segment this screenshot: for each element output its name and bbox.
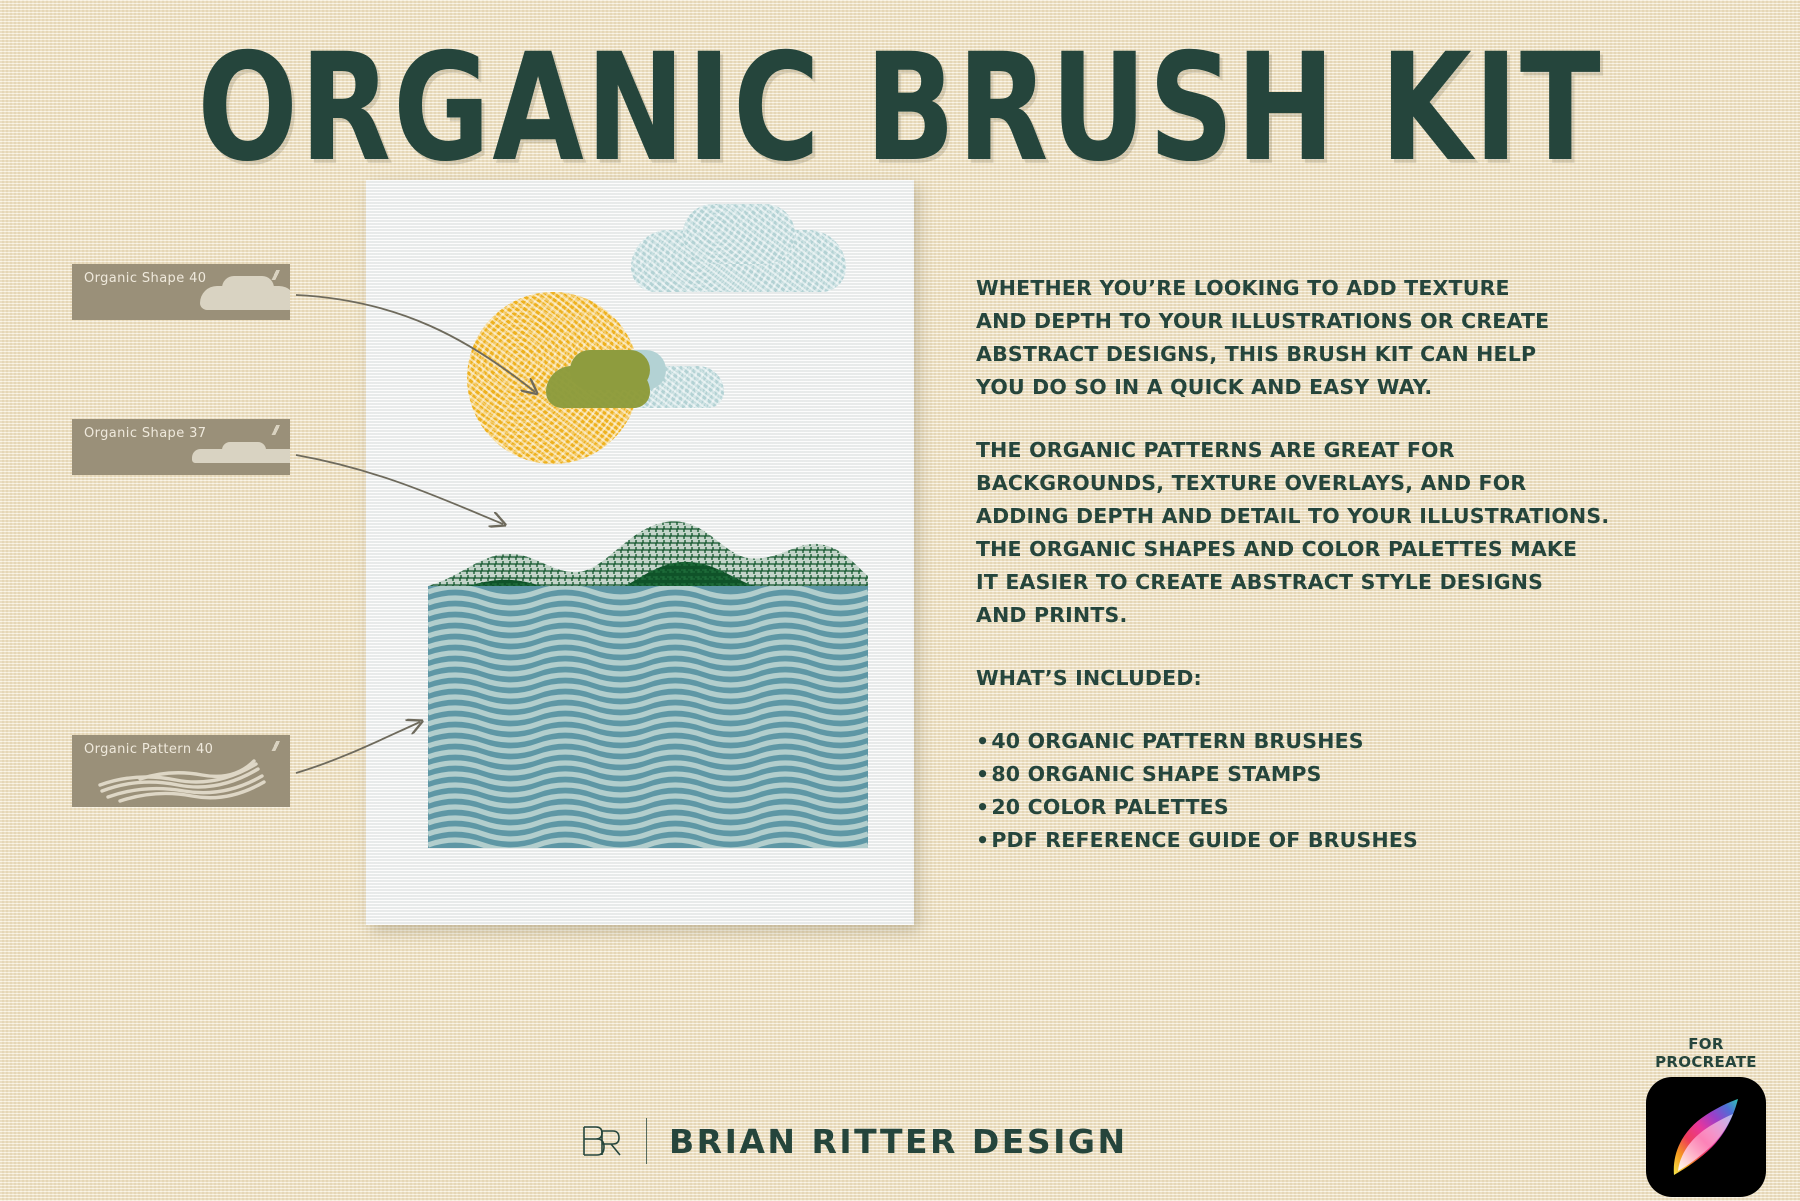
list-item: PDF REFERENCE GUIDE OF BRUSHES	[976, 824, 1486, 857]
cloud-swatch-icon	[200, 286, 290, 310]
brush-card-label: Organic Shape 40	[84, 271, 206, 286]
paragraph-2: THE ORGANIC PATTERNS ARE GREAT FOR BACKG…	[976, 434, 1486, 632]
hill-swatch-icon	[192, 449, 290, 463]
list-item: 80 ORGANIC SHAPE STAMPS	[976, 758, 1486, 791]
resize-handle-icon[interactable]	[266, 270, 284, 280]
procreate-badge: FOR PROCREATE	[1642, 1035, 1770, 1197]
copy-line: WHETHER YOU’RE LOOKING TO ADD TEXTURE	[976, 272, 1486, 305]
paragraph-1: WHETHER YOU’RE LOOKING TO ADD TEXTURE AN…	[976, 272, 1486, 404]
brush-card-organic-shape-37[interactable]: Organic Shape 37	[72, 419, 290, 475]
copy-line: ABSTRACT DESIGNS, THIS BRUSH KIT CAN HEL…	[976, 338, 1486, 371]
list-item: 40 ORGANIC PATTERN BRUSHES	[976, 725, 1486, 758]
brush-card-organic-shape-40[interactable]: Organic Shape 40	[72, 264, 290, 320]
wave-swatch-icon	[86, 755, 278, 803]
list-item: 20 COLOR PALETTES	[976, 791, 1486, 824]
copy-line: THE ORGANIC PATTERNS ARE GREAT FOR	[976, 434, 1486, 467]
copy-line: BACKGROUNDS, TEXTURE OVERLAYS, AND FOR	[976, 467, 1486, 500]
procreate-app-icon	[1646, 1077, 1766, 1197]
cloud-upper-shape	[631, 230, 846, 292]
copy-line: AND PRINTS.	[976, 599, 1486, 632]
brush-card-organic-pattern-40[interactable]: Organic Pattern 40	[72, 735, 290, 807]
copy-line: AND DEPTH TO YOUR ILLUSTRATIONS OR CREAT…	[976, 305, 1486, 338]
brand-name: BRIAN RITTER DESIGN	[669, 1122, 1128, 1161]
poster-canvas: ORGANIC BRUSH KIT	[0, 0, 1800, 1201]
procreate-label: FOR PROCREATE	[1642, 1035, 1770, 1071]
brd-monogram-icon	[580, 1121, 624, 1161]
brush-card-label: Organic Shape 37	[84, 426, 206, 441]
copy-line: THE ORGANIC SHAPES AND COLOR PALETTES MA…	[976, 533, 1486, 566]
water-shape	[428, 586, 868, 848]
resize-handle-icon[interactable]	[266, 741, 284, 751]
copy-line: YOU DO SO IN A QUICK AND EASY WAY.	[976, 371, 1486, 404]
description-column: WHETHER YOU’RE LOOKING TO ADD TEXTURE AN…	[976, 272, 1486, 857]
footer-divider	[646, 1118, 647, 1164]
footer-branding: BRIAN RITTER DESIGN	[580, 1118, 1128, 1164]
copy-line: ADDING DEPTH AND DETAIL TO YOUR ILLUSTRA…	[976, 500, 1486, 533]
sun-cloud-overlap-shape	[546, 366, 650, 408]
artwork-preview	[366, 180, 914, 925]
resize-handle-icon[interactable]	[266, 425, 284, 435]
included-list: 40 ORGANIC PATTERN BRUSHES 80 ORGANIC SH…	[976, 725, 1486, 857]
included-heading: WHAT’S INCLUDED:	[976, 662, 1486, 695]
page-title: ORGANIC BRUSH KIT	[0, 22, 1800, 195]
copy-line: IT EASIER TO CREATE ABSTRACT STYLE DESIG…	[976, 566, 1486, 599]
